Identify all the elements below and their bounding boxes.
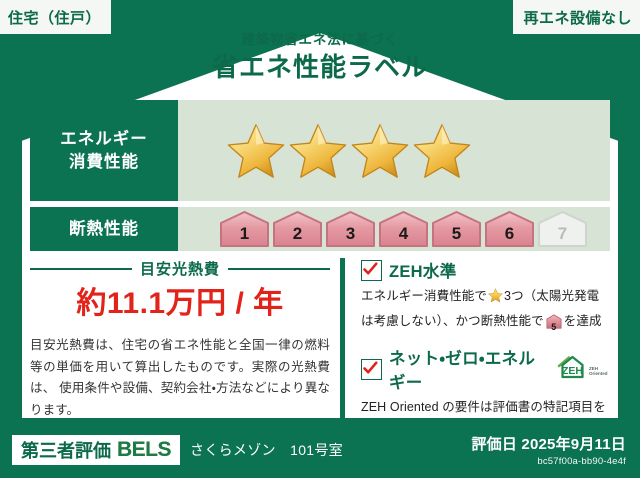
zeh-oriented-logo: ZEH ZEH Oriented [556, 354, 610, 385]
checkbox-checked-icon [361, 260, 382, 281]
zeh-netzero-heading: ネット・ゼロ・エネルギー ZEH ZEH Oriented [361, 345, 610, 393]
insulation-performance-row: 断熱性能 1234567 [30, 207, 610, 251]
utility-cost-column: 目安光熱費 約11.1万円 / 年 目安光熱費は、住宅の省エネ性能と全国一律の燃… [30, 258, 330, 449]
star-rating [226, 122, 472, 180]
star-icon [288, 122, 348, 180]
insulation-step-number: 5 [430, 224, 483, 244]
insulation-step: 2 [271, 210, 324, 248]
column-divider [340, 258, 345, 449]
insulation-step-number: 7 [536, 224, 589, 244]
label-subtitle: 建築物省エネ法に基づく [22, 33, 618, 47]
building-type-tag: 住宅（住戸） [0, 0, 111, 34]
netzero-body-line1: ZEH Oriented の要件は評価書の特記項 [361, 400, 581, 414]
insulation-step-number: 1 [218, 224, 271, 244]
details-section: 目安光熱費 約11.1万円 / 年 目安光熱費は、住宅の省エネ性能と全国一律の燃… [30, 258, 610, 449]
house-icon-number: 5 [546, 320, 562, 335]
star-icon [412, 122, 472, 180]
renewable-energy-tag: 再エネ設備なし [513, 0, 640, 34]
zeh-standard-block: ZEH水準 エネルギー消費性能で3つ（太陽光発電は考慮しない）、かつ断熱性能で5… [361, 258, 610, 336]
utility-cost-note: 目安光熱費は、住宅の省エネ性能と全国一律の燃料 等の単価を用いて算出したものです… [30, 335, 330, 421]
insulation-performance-label: 断熱性能 [30, 207, 178, 251]
label-title-block: 建築物省エネ法に基づく 省エネ性能ラベル [22, 33, 618, 80]
label-title: 省エネ性能ラベル [22, 54, 618, 80]
insulation-step: 3 [324, 210, 377, 248]
zeh-column: ZEH水準 エネルギー消費性能で3つ（太陽光発電は考慮しない）、かつ断熱性能で5… [355, 258, 610, 449]
insulation-step-number: 2 [271, 224, 324, 244]
svg-text:Oriented: Oriented [589, 371, 608, 376]
bels-logo-en: BELS [117, 438, 171, 462]
cost-note-line1: 目安光熱費は、住宅の省エネ性能と全国一律の燃料 [30, 338, 330, 352]
star-icon [350, 122, 410, 180]
zeh-standard-heading: ZEH水準 [361, 258, 610, 282]
zeh-body-part2: は考慮しない）、かつ断熱性能で [361, 314, 544, 328]
insulation-label-text: 断熱性能 [69, 218, 139, 240]
insulation-performance-value: 1234567 [178, 207, 610, 251]
energy-label-line2: 消費性能 [69, 151, 139, 173]
evaluation-date: 評価日 2025年9月11日 [471, 433, 626, 454]
evaluation-id: bc57f00a-bb90-4e4f [471, 456, 626, 467]
zeh-standard-title: ZEH水準 [389, 258, 457, 282]
insulation-scale: 1234567 [218, 210, 589, 248]
utility-cost-value: 約11.1万円 / 年 [30, 289, 330, 319]
insulation-step: 6 [483, 210, 536, 248]
utility-cost-heading-text: 目安光熱費 [140, 258, 220, 279]
building-name: さくらメゾン 101号室 [190, 440, 343, 460]
insulation-step: 7 [536, 210, 589, 248]
rule-right [228, 268, 330, 270]
svg-text:ZEH: ZEH [589, 366, 598, 371]
zeh-netzero-title: ネット・ゼロ・エネルギー [389, 345, 546, 393]
energy-label-line1: エネルギー [60, 128, 148, 150]
energy-performance-row: エネルギー 消費性能 [30, 100, 610, 201]
star-icon [226, 122, 286, 180]
star-icon-inline [488, 292, 503, 306]
energy-performance-label: 住宅（住戸） 再エネ設備なし 建築物省エネ法に基づく 省エネ性能ラベル エネルギ… [0, 0, 640, 478]
zeh-body-part1: エネルギー消費性能で [361, 289, 487, 303]
insulation-step: 1 [218, 210, 271, 248]
evaluation-info: 評価日 2025年9月11日 bc57f00a-bb90-4e4f [471, 433, 626, 467]
energy-performance-label: エネルギー 消費性能 [30, 100, 178, 201]
label-footer: 第三者評価 BELS さくらメゾン 101号室 評価日 2025年9月11日 b… [0, 422, 640, 478]
performance-section: エネルギー 消費性能 断熱性能 1234567 [30, 100, 610, 257]
bels-logo: 第三者評価 BELS [12, 435, 180, 465]
insulation-step-number: 6 [483, 224, 536, 244]
zeh-body-star-count: 3つ（太陽光発電 [504, 289, 599, 303]
insulation-step: 5 [430, 210, 483, 248]
zeh-body-part3: を達成 [564, 314, 602, 328]
checkbox-checked-icon-2 [361, 359, 382, 380]
bels-logo-jp: 第三者評価 [21, 437, 111, 463]
insulation-step-number: 4 [377, 224, 430, 244]
insulation-step-number: 3 [324, 224, 377, 244]
insulation-step: 4 [377, 210, 430, 248]
cost-note-line3: 使用条件や設備、契約会社・方法などにより異なります。 [30, 381, 330, 417]
house-icon-inline: 5 [546, 314, 562, 337]
svg-text:ZEH: ZEH [562, 365, 583, 377]
zeh-standard-body: エネルギー消費性能で3つ（太陽光発電は考慮しない）、かつ断熱性能で5を達成 [361, 286, 610, 336]
energy-performance-value [178, 100, 610, 201]
rule-left [30, 268, 132, 270]
utility-cost-heading: 目安光熱費 [30, 258, 330, 279]
